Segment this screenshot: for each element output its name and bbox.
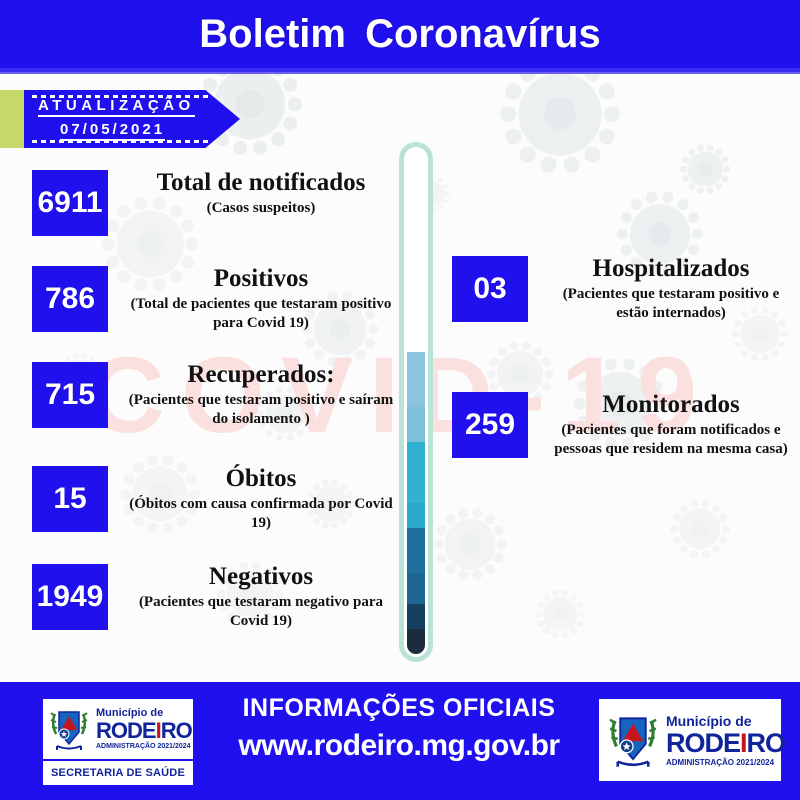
virus-spike [690,500,698,508]
thermometer-segment [407,528,425,573]
stat-label: Recuperados: [126,362,396,388]
virus-inner [236,90,264,118]
logo-right-text: Município de RODEIRO ADMINISTRAÇÃO 2021/… [666,714,785,767]
stat-value-box: 1949 [32,564,108,630]
informacoes-oficiais-label: INFORMAÇÕES OFICIAIS [200,694,598,723]
virus-spike [537,601,544,608]
virus-spike [570,594,577,601]
virus-spike [692,228,703,239]
stat-text-block: Hospitalizados(Pacientes que testaram po… [546,256,796,323]
virus-spike [564,157,580,173]
virus-spike [552,632,559,639]
update-label: ATUALIZAÇÃO [38,97,195,117]
virus-spike [673,536,681,544]
stat-text-block: Positivos(Total de pacientes que testara… [126,266,396,333]
stat-label: Hospitalizados [546,256,796,282]
virus-spike [688,212,699,223]
virus-spike [562,590,569,597]
virus-spike [576,620,583,627]
stat-row: 715Recuperados:(Pacientes que testaram p… [32,362,396,429]
stat-value: 786 [45,282,95,316]
virus-spike [715,183,722,190]
virus-spike [578,611,585,618]
virus-inner [553,607,567,621]
virus-spike [445,564,455,574]
coat-of-arms-icon [605,708,661,772]
logo-left-text: Município de RODEIRO ADMINISTRAÇÃO 2021/… [96,708,192,750]
virus-spike [715,149,722,156]
stat-value-box: 6911 [32,170,108,236]
logo-left-line3: ADMINISTRAÇÃO 2021/2024 [96,743,192,750]
virus-spike [443,199,448,204]
thermometer-graphic [399,142,433,662]
banner-dash-bottom [32,140,210,143]
virus-spike [719,536,727,544]
logo-left-top: Município de RODEIRO ADMINISTRAÇÃO 2021/… [43,699,193,761]
virus-spike [670,525,678,533]
stat-row: 786Positivos(Total de pacientes que test… [32,266,396,333]
thermometer-fill [407,150,425,654]
virus-spike [599,129,615,145]
virus-spike [438,205,443,210]
stat-text-block: Negativos(Pacientes que testaram negativ… [126,564,396,631]
virus-spike [185,238,198,251]
logo-secretaria-saude: Município de RODEIRO ADMINISTRAÇÃO 2021/… [42,698,194,786]
virus-spike [599,84,615,100]
virus-spike [719,514,727,522]
stat-description: (Total de pacientes que testaram positiv… [126,295,396,333]
virus-spike [443,184,448,189]
stat-row: 1949Negativos(Pacientes que testaram neg… [32,564,396,631]
virus-spike [680,166,687,173]
stat-row: 259Monitorados(Pacientes que foram notif… [452,392,796,459]
virus-spike [712,545,720,553]
virus-spike [682,156,689,163]
virus-spike [663,192,674,203]
stat-value-box: 715 [32,362,108,428]
virus-spike [707,145,714,152]
stat-value: 03 [473,272,506,306]
stat-label: Positivos [126,266,396,292]
virus-spike [678,199,689,210]
logo-right-line3: ADMINISTRAÇÃO 2021/2024 [666,759,785,767]
virus-spike [702,500,710,508]
website-url[interactable]: www.rodeiro.mg.gov.br [200,729,598,763]
virus-spike [445,191,450,196]
virus-spike [535,611,542,618]
virus-spike [458,508,468,518]
virus-spike [497,539,507,549]
update-banner: ATUALIZAÇÃO 07/05/2021 [0,90,240,148]
thermometer-segment [407,629,425,654]
stat-description: (Pacientes que testaram positivo e estão… [546,285,796,323]
virus-spike [673,514,681,522]
virus-spike [494,553,504,563]
stat-text-block: Óbitos(Óbitos com causa confirmada por C… [126,466,396,533]
virus-spike [458,570,468,580]
logo-left-line2: RODEIRO [96,720,192,742]
virus-spike [646,192,657,203]
logo-right-line1: Município de [666,714,785,728]
virus-spike [102,238,115,251]
page-header: Boletim Coronavírus [0,0,800,68]
stat-value: 1949 [37,580,104,614]
coat-of-arms-icon [47,704,91,754]
virus-spike [288,97,302,111]
update-banner-tab [0,90,24,148]
virus-particle-icon [488,74,632,186]
virus-spike [721,156,728,163]
virus-spike [721,175,728,182]
stat-value: 6911 [37,186,102,220]
logo-right-line2: RODEIRO [666,730,785,757]
update-date: 07/05/2021 [60,121,165,141]
virus-spike [537,620,544,627]
virus-spike [472,508,482,518]
virus-spike [621,212,632,223]
stat-description: (Casos suspeitos) [126,199,396,218]
secretaria-saude-label: SECRETARIA DE SAÚDE [51,767,185,779]
virus-spike [688,149,695,156]
virus-spike [680,505,688,513]
virus-spike [584,74,600,81]
thermometer-segment [407,503,425,528]
virus-spike [445,514,455,524]
virus-particle-icon [530,584,590,644]
content-area: COVID-19 ATUALIZAÇÃO 07/05/2021 6911Tota… [0,74,800,682]
thermometer-segment [407,573,425,603]
virus-spike [631,199,642,210]
thermometer-segment [407,407,425,442]
stat-description: (Pacientes que testaram positivo e saíra… [126,391,396,429]
virus-spike [723,166,730,173]
virus-spike [505,84,521,100]
virus-spike [570,628,577,635]
stat-value-box: 259 [452,392,528,458]
virus-spike [617,228,628,239]
virus-spike [690,550,698,558]
stat-description: (Óbitos com causa confirmada por Covid 1… [126,495,396,533]
virus-spike [722,525,730,533]
virus-spike [505,129,521,145]
stat-label: Óbitos [126,466,396,492]
virus-spike [604,106,620,122]
stat-value: 715 [45,378,95,412]
logo-municipio-rodeiro: Município de RODEIRO ADMINISTRAÇÃO 2021/… [598,698,782,782]
virus-spike [576,601,583,608]
stat-value: 259 [465,408,515,442]
virus-spike [500,106,516,122]
virus-spike [702,550,710,558]
stat-row: 6911Total de notificados(Casos suspeitos… [32,170,396,236]
virus-particle-icon [664,493,736,565]
virus-spike [584,147,600,163]
virus-spike [472,570,482,580]
stat-description: (Pacientes que foram notificados e pesso… [546,421,796,459]
stat-text-block: Total de notificados(Casos suspeitos) [126,170,396,218]
thermometer-segment [407,442,425,502]
virus-spike [494,525,504,535]
virus-spike [520,147,536,163]
footer-info-block: INFORMAÇÕES OFICIAIS www.rodeiro.mg.gov.… [200,694,598,763]
virus-spike [485,564,495,574]
banner-dash-top [32,95,210,98]
virus-inner [460,534,480,554]
virus-spike [253,141,267,155]
virus-spike [271,132,285,146]
thermometer-segment [407,352,425,407]
virus-spike [541,157,557,173]
stat-text-block: Monitorados(Pacientes que foram notifica… [546,392,796,459]
thermometer-segment [407,604,425,629]
virus-spike [543,594,550,601]
stat-value-box: 03 [452,256,528,322]
virus-spike [682,175,689,182]
stat-text-block: Recuperados:(Pacientes que testaram posi… [126,362,396,429]
virus-inner [698,162,712,176]
virus-spike [520,74,536,81]
virus-spike [697,145,704,152]
virus-spike [485,514,495,524]
stat-value-box: 15 [32,466,108,532]
stat-label: Total de notificados [126,170,396,196]
virus-spike [271,74,285,76]
stat-row: 15Óbitos(Óbitos com causa confirmada por… [32,466,396,533]
virus-spike [283,117,297,131]
virus-spike [438,178,443,183]
logo-left-bottom: SECRETARIA DE SAÚDE [43,761,193,785]
stat-description: (Pacientes que testaram negativo para Co… [126,593,396,631]
virus-spike [433,539,443,549]
virus-spike [680,545,688,553]
virus-spike [543,628,550,635]
virus-particle-icon [426,500,514,588]
update-banner-arrow: ATUALIZAÇÃO 07/05/2021 [24,90,240,148]
virus-spike [437,525,447,535]
thermometer-segment [407,150,425,352]
stat-label: Negativos [126,564,396,590]
stat-row: 03Hospitalizados(Pacientes que testaram … [452,256,796,323]
stat-value-box: 786 [32,266,108,332]
virus-spike [552,590,559,597]
stat-value: 15 [53,482,86,516]
stat-label: Monitorados [546,392,796,418]
virus-spike [712,505,720,513]
virus-spike [283,78,297,92]
virus-spike [562,632,569,639]
page-title: Boletim Coronavírus [199,12,600,57]
virus-spike [437,553,447,563]
